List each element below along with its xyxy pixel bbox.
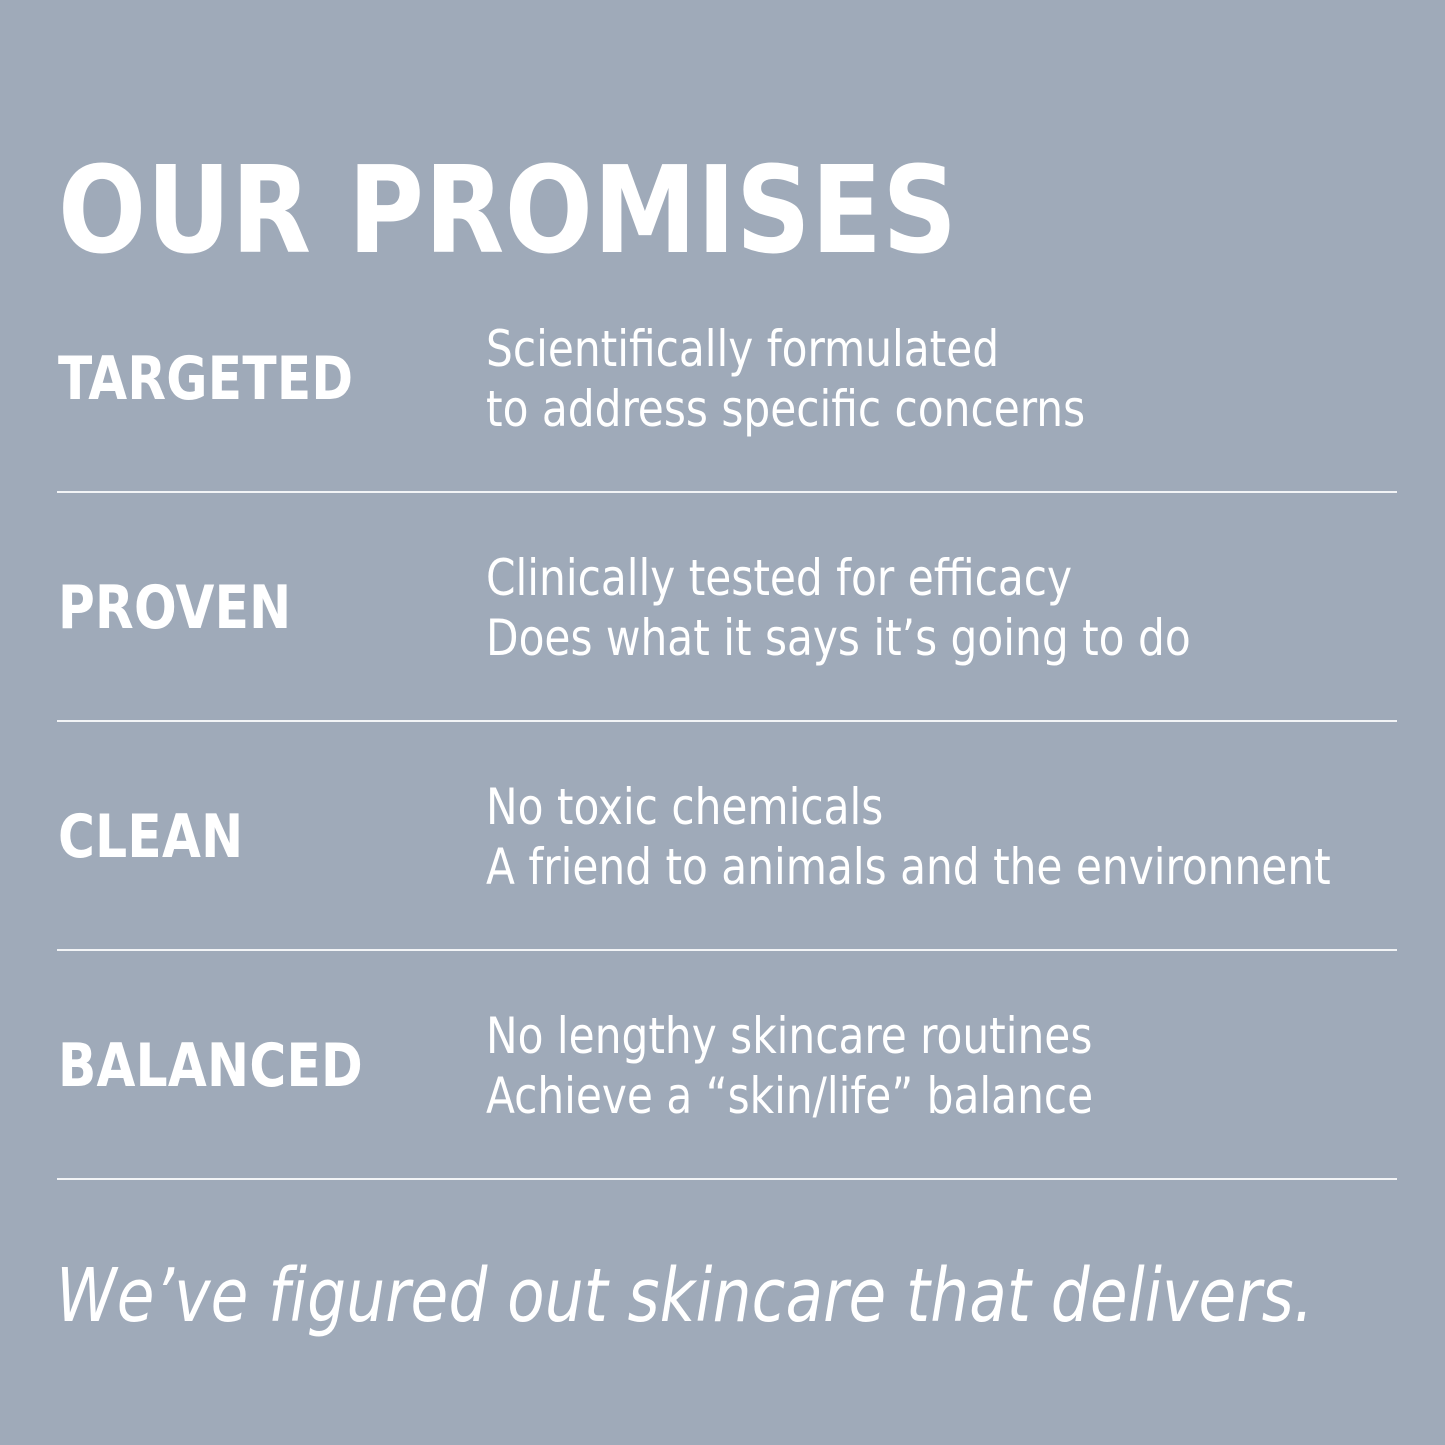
promise-body-balanced: No lengthy skincare routines Achieve a “… <box>486 1006 1093 1126</box>
promise-row-content: BALANCED No lengthy skincare routines Ac… <box>0 951 1445 1180</box>
promise-body-line-2: A friend to animals and the environnent <box>486 837 1331 897</box>
promise-row-content: PROVEN Clinically tested for efficacy Do… <box>0 493 1445 722</box>
promises-list: TARGETED Scientifically formulated to ad… <box>0 264 1445 1180</box>
promise-row: PROVEN Clinically tested for efficacy Do… <box>0 493 1445 722</box>
promise-row: CLEAN No toxic chemicals A friend to ani… <box>0 722 1445 951</box>
promise-body-clean: No toxic chemicals A friend to animals a… <box>486 777 1331 897</box>
promise-label-proven: PROVEN <box>58 578 291 638</box>
page-title: OUR PROMISES <box>58 152 958 272</box>
promise-row-content: CLEAN No toxic chemicals A friend to ani… <box>0 722 1445 951</box>
row-divider <box>57 1178 1397 1180</box>
promise-body-line-1: Clinically tested for efficacy <box>486 548 1191 608</box>
promise-label-balanced: BALANCED <box>58 1036 363 1096</box>
promise-body-targeted: Scientifically formulated to address spe… <box>486 319 1085 439</box>
promise-row-content: TARGETED Scientifically formulated to ad… <box>0 264 1445 493</box>
promise-label-clean: CLEAN <box>58 807 243 867</box>
promise-row: BALANCED No lengthy skincare routines Ac… <box>0 951 1445 1180</box>
promise-body-line-1: Scientifically formulated <box>486 319 1085 379</box>
promise-body-line-1: No lengthy skincare routines <box>486 1006 1093 1066</box>
footer-tagline: We’ve figured out skincare that delivers… <box>56 1259 1313 1333</box>
promise-row: TARGETED Scientifically formulated to ad… <box>0 264 1445 493</box>
promise-body-proven: Clinically tested for efficacy Does what… <box>486 548 1191 668</box>
promises-poster: OUR PROMISES TARGETED Scientifically for… <box>0 0 1445 1445</box>
promise-label-targeted: TARGETED <box>58 349 353 409</box>
promise-body-line-1: No toxic chemicals <box>486 777 1331 837</box>
promise-body-line-2: Achieve a “skin/life” balance <box>486 1066 1093 1126</box>
promise-body-line-2: Does what it says it’s going to do <box>486 608 1191 668</box>
promise-body-line-2: to address specific concerns <box>486 379 1085 439</box>
